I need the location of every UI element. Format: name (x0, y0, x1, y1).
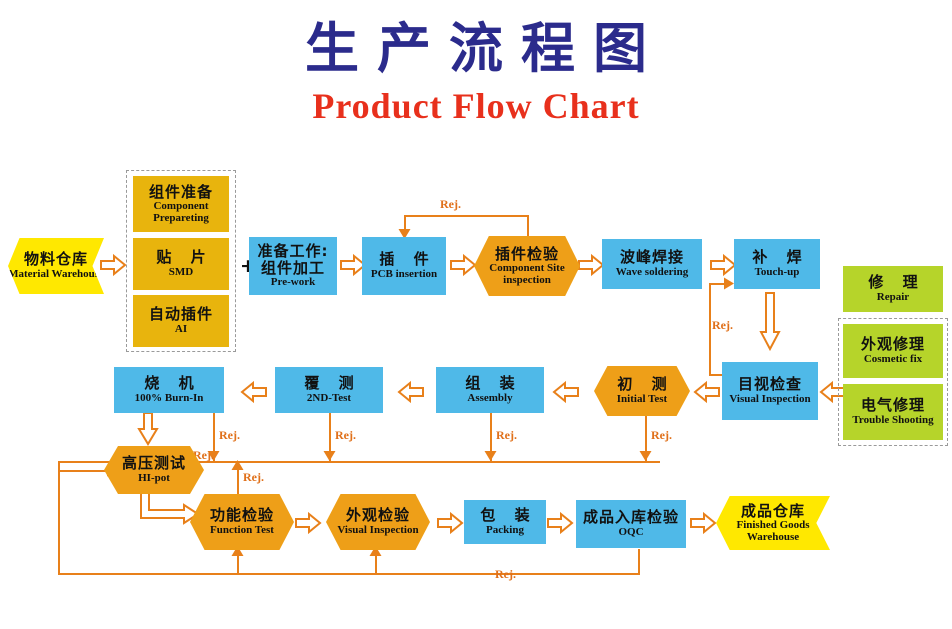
arrow-burnin-to-hipot (138, 412, 158, 446)
flowchart-canvas: 生产流程图 Product Flow Chart Rej. Rej. Rej. … (0, 0, 952, 629)
page-title-english: Product Flow Chart (0, 88, 952, 124)
node-component-site-inspection[interactable]: 插件检验 Component Site inspection (474, 236, 580, 296)
node-visual-inspection-2[interactable]: 外观检验 Visual Inspection (326, 494, 430, 550)
connector-bottom-bus-left-riser (58, 461, 60, 575)
node-label-cn: 物料仓库 (24, 251, 88, 267)
node-label-en: Finished Goods Warehouse (716, 520, 830, 544)
node-label-cn: 包 装 (473, 507, 536, 523)
rej-label-visual-inspection-1: Rej. (712, 318, 733, 333)
node-label-en: Wave soldering (616, 267, 688, 279)
node-burn-in[interactable]: 烧 机 100% Burn-In (114, 367, 224, 413)
rej-label-oqc: Rej. (495, 567, 516, 582)
arrow-packing-to-oqc (547, 513, 573, 533)
node-label-en: AI (175, 324, 187, 336)
node-label-en: Initial Test (617, 394, 667, 406)
node-label-cn: 成品仓库 (741, 503, 805, 519)
rej-label-initial-test: Rej. (651, 428, 672, 443)
node-label-cn: 外观修理 (861, 336, 925, 352)
arrow-visual1-to-initialtest (694, 382, 720, 402)
node-label-en: Component Prepareting (133, 201, 229, 225)
node-label-en: Pre-work (271, 277, 315, 289)
node-touch-up[interactable]: 补 焊 Touch-up (734, 239, 820, 289)
arrow-initialtest-to-assembly (553, 382, 579, 402)
rej-label-burn-in: Rej. (219, 428, 240, 443)
node-label-cn: 功能检验 (210, 507, 274, 523)
node-initial-test[interactable]: 初 测 Initial Test (594, 366, 690, 416)
arrow-visual2-to-packing (437, 513, 463, 533)
node-cosmetic-fix[interactable]: 外观修理 Cosmetic fix (843, 324, 943, 378)
arrow-oqc-to-finished-goods (690, 513, 716, 533)
node-smd[interactable]: 贴 片 SMD (133, 238, 229, 290)
node-label-en: Trouble Shooting (852, 415, 933, 427)
node-label-en: Cosmetic fix (864, 354, 922, 366)
connector-rej-oqc-down (638, 549, 640, 575)
arrow-touchup-to-visual1 (760, 292, 780, 352)
arrow-assembly-to-2ndtest (398, 382, 424, 402)
node-label-en: 100% Burn-In (135, 393, 204, 405)
node-label-cn: 组 装 (458, 375, 521, 391)
connector-rej-visual-left (709, 374, 723, 376)
node-label-en: Material Warehouse (8, 269, 104, 281)
node-label-cn-line1: 准备工作: (258, 243, 329, 259)
node-pre-work[interactable]: 准备工作: 组件加工 Pre-work (249, 237, 337, 295)
rej-label-function-test: Rej. (243, 470, 264, 485)
rej-label-site-inspection: Rej. (440, 197, 461, 212)
node-label-cn: 外观检验 (346, 507, 410, 523)
node-label-en: HI-pot (138, 473, 170, 485)
node-label-cn: 贴 片 (149, 249, 212, 265)
node-trouble-shooting[interactable]: 电气修理 Trouble Shooting (843, 384, 943, 440)
node-label-cn: 补 焊 (745, 249, 808, 265)
node-visual-inspection-1[interactable]: 目视检查 Visual Inspection (722, 362, 818, 420)
connector-rej-bus-main (186, 461, 660, 463)
connector-rej-visual-up (709, 283, 711, 376)
connector-bus-into-hipot (58, 470, 110, 472)
node-material-warehouse[interactable]: 物料仓库 Material Warehouse (8, 238, 104, 294)
node-label-cn: 烧 机 (137, 375, 200, 391)
node-label-en: Packing (486, 525, 524, 537)
node-label-en: Touch-up (755, 267, 800, 279)
node-label-en: Visual Inspection (337, 525, 418, 537)
node-assembly[interactable]: 组 装 Assembly (436, 367, 544, 413)
node-repair[interactable]: 修 理 Repair (843, 266, 943, 312)
node-label-en: Function Test (210, 525, 274, 537)
arrow-2ndtest-to-burnin (241, 382, 267, 402)
arrow-site-inspection-to-wave (578, 255, 604, 275)
node-finished-goods-warehouse[interactable]: 成品仓库 Finished Goods Warehouse (716, 496, 830, 550)
node-2nd-test[interactable]: 覆 测 2ND-Test (275, 367, 383, 413)
node-function-test[interactable]: 功能检验 Function Test (190, 494, 294, 550)
node-wave-soldering[interactable]: 波峰焊接 Wave soldering (602, 239, 702, 289)
arrowhead-rej-initialtest (639, 449, 652, 462)
node-label-cn: 成品入库检验 (583, 509, 679, 525)
rej-label-assembly: Rej. (496, 428, 517, 443)
node-label-cn: 覆 测 (297, 375, 360, 391)
node-hi-pot[interactable]: 高压测试 HI-pot (104, 446, 204, 494)
node-label-cn: 自动插件 (149, 306, 213, 322)
node-packing[interactable]: 包 装 Packing (464, 500, 546, 544)
node-label-en: OQC (618, 527, 643, 539)
node-label-en: Assembly (467, 393, 512, 405)
connector-rej-site-to-pcb-top (404, 215, 529, 217)
node-pcb-insertion[interactable]: 插 件 PCB insertion (362, 237, 446, 295)
node-label-cn: 修 理 (861, 274, 924, 290)
arrow-warehouse-to-prep (100, 255, 126, 275)
arrow-functiontest-to-visual2 (295, 513, 321, 533)
node-label-en: Visual Inspection (729, 394, 810, 406)
node-label-en: 2ND-Test (307, 393, 351, 405)
node-label-cn: 插件检验 (495, 246, 559, 262)
node-label-cn: 初 测 (610, 376, 673, 392)
node-label-en: SMD (169, 267, 193, 279)
node-label-cn: 波峰焊接 (620, 249, 684, 265)
node-component-prepareting[interactable]: 组件准备 Component Prepareting (133, 176, 229, 232)
arrow-wave-to-touchup (710, 255, 736, 275)
arrow-pcb-to-site-inspection (450, 255, 476, 275)
node-label-en: Component Site inspection (474, 263, 580, 287)
node-label-cn: 目视检查 (738, 376, 802, 392)
rej-label-2nd-test: Rej. (335, 428, 356, 443)
arrowhead-rej-2ndtest (323, 449, 336, 462)
node-label-en: Repair (877, 292, 909, 304)
node-label-cn: 电气修理 (861, 397, 925, 413)
arrowhead-rej-assembly (484, 449, 497, 462)
node-label-cn-line2: 组件加工 (261, 260, 325, 276)
node-label-cn: 高压测试 (122, 455, 186, 471)
node-label-cn: 组件准备 (149, 184, 213, 200)
node-oqc[interactable]: 成品入库检验 OQC (576, 500, 686, 548)
node-auto-insertion-ai[interactable]: 自动插件 AI (133, 295, 229, 347)
page-title-chinese: 生产流程图 (0, 22, 952, 76)
connector-rej-bus-bottom (58, 573, 640, 575)
node-label-en: PCB insertion (371, 269, 437, 281)
node-label-cn: 插 件 (372, 251, 435, 267)
